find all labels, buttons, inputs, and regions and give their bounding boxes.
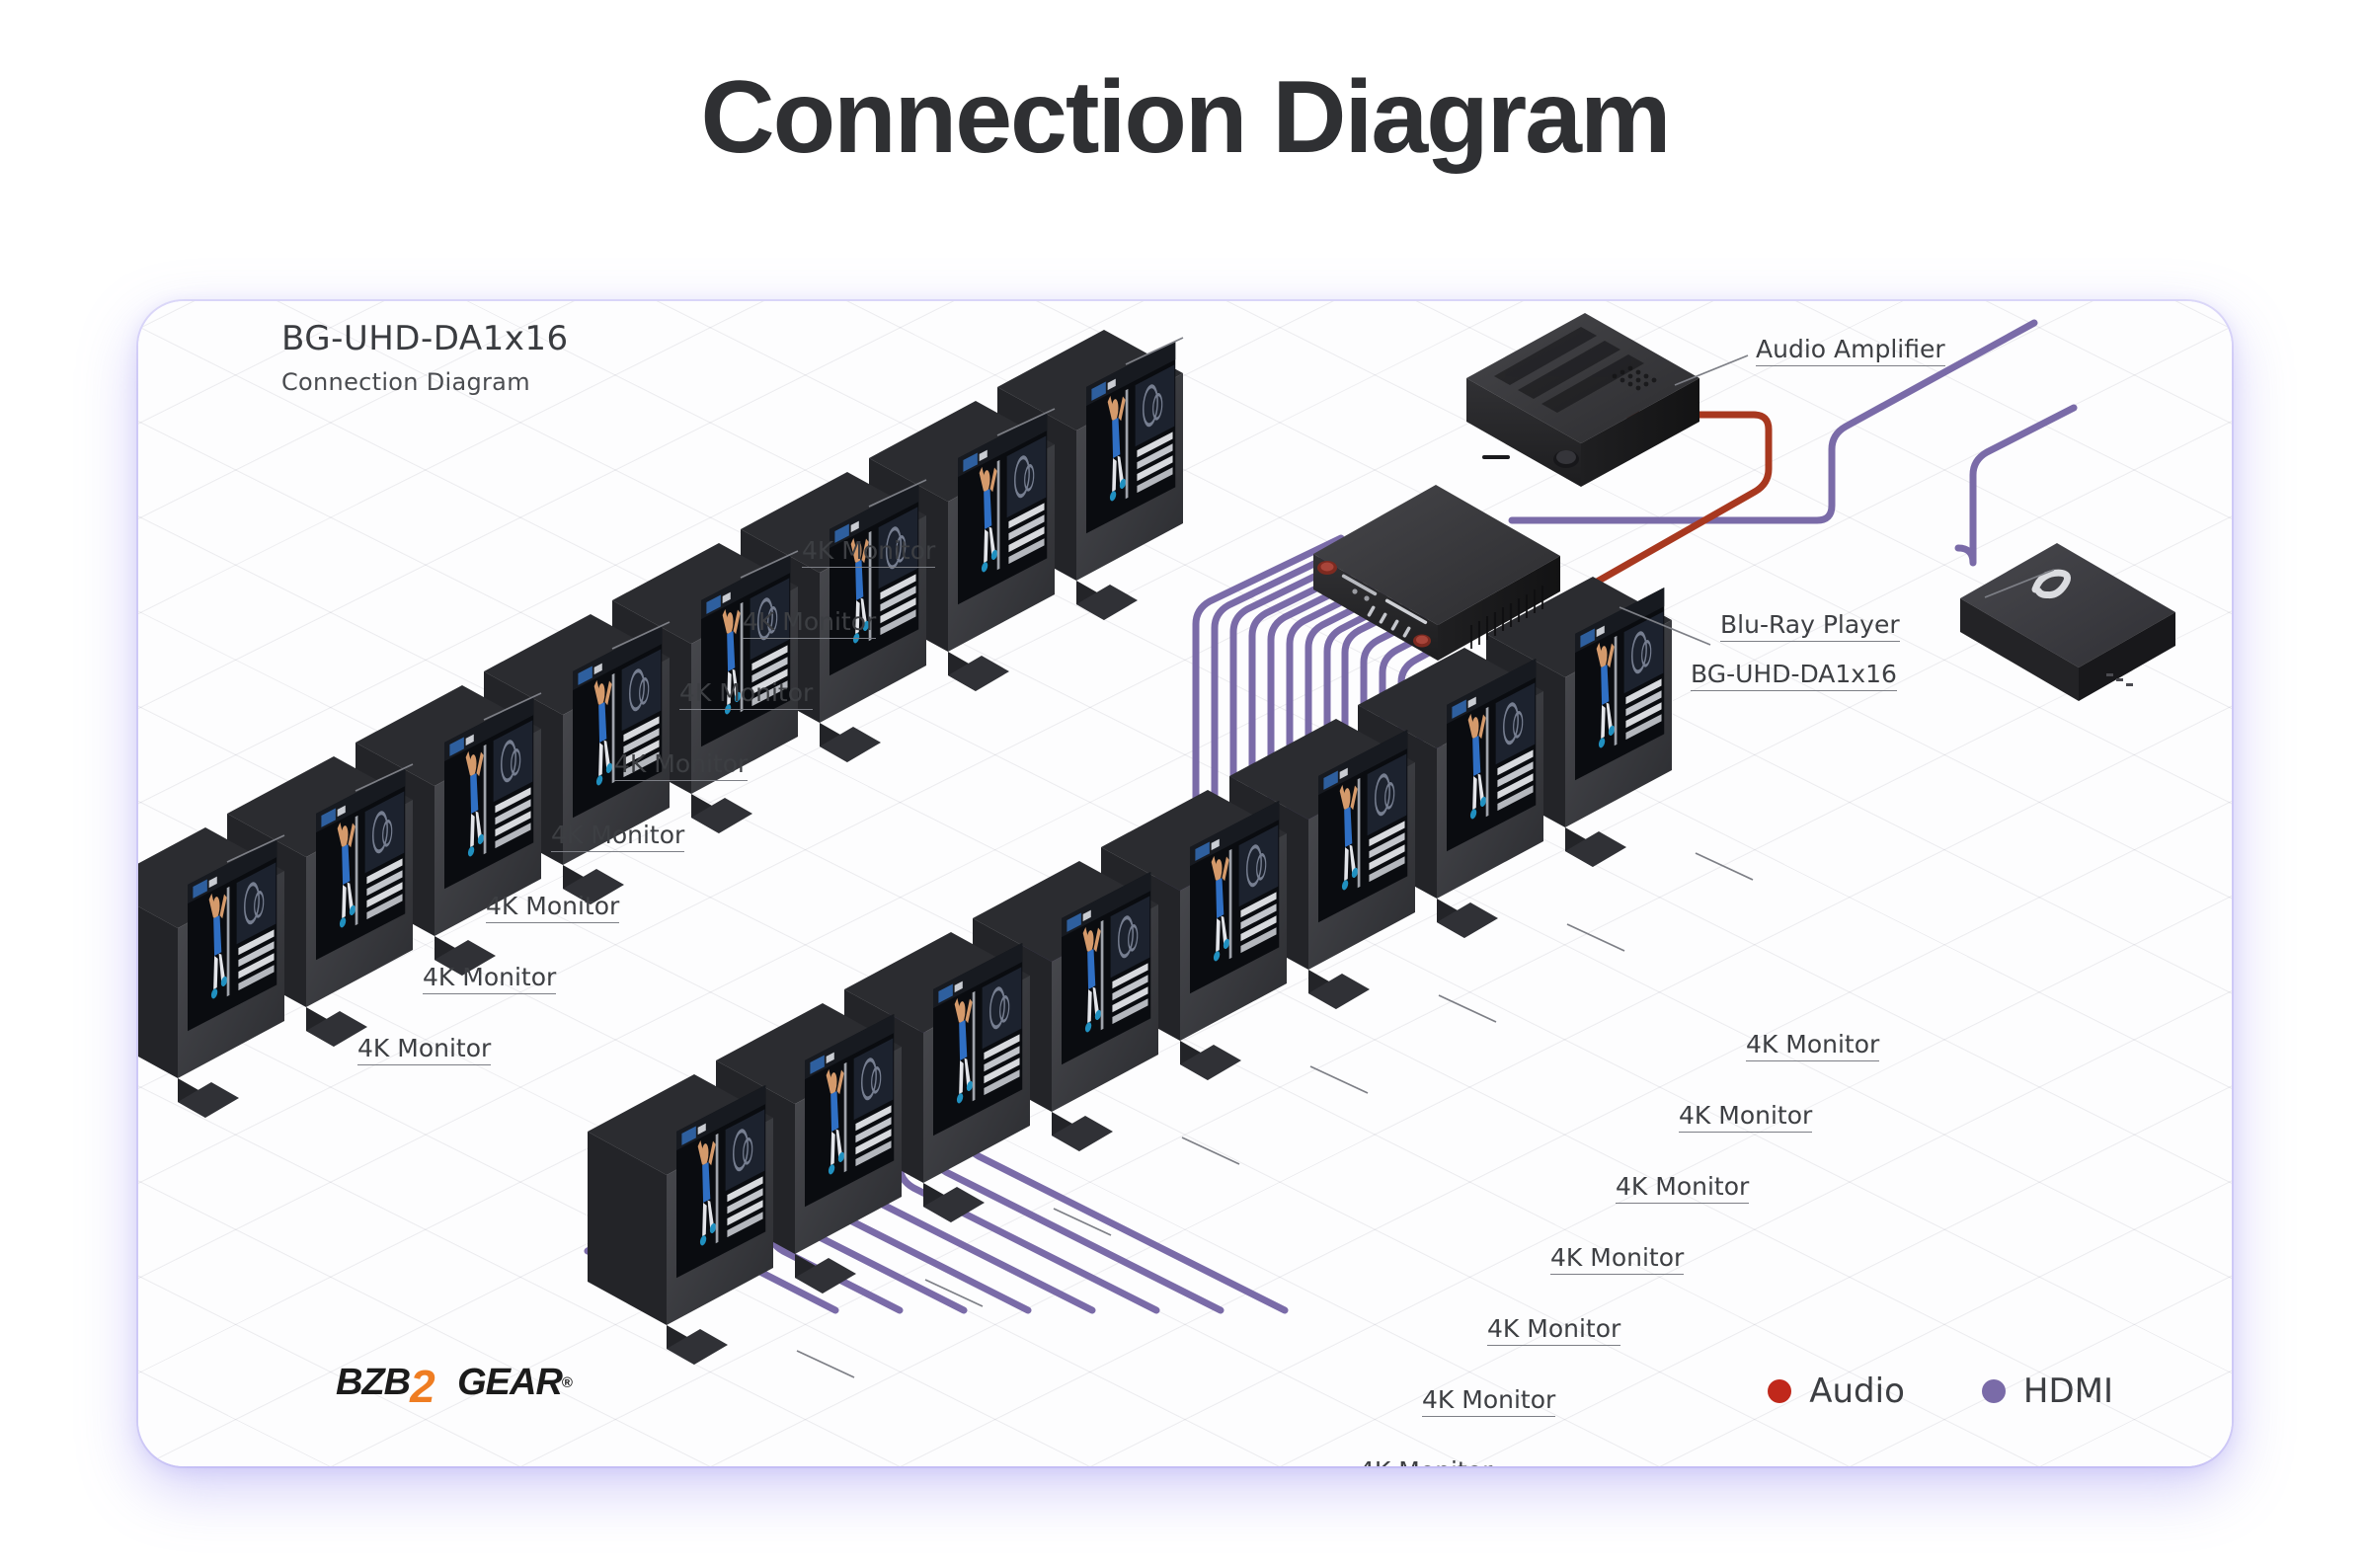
logo-text-right: GEAR — [457, 1362, 562, 1404]
audio-dot-icon — [1768, 1379, 1791, 1403]
page-title: Connection Diagram — [0, 59, 2370, 177]
monitor-label: 4K Monitor — [1487, 1316, 1620, 1346]
monitor-label: 4K Monitor — [614, 751, 748, 781]
legend-label-hdmi: HDMI — [2023, 1372, 2113, 1411]
brand-logo: BZB 2 GEAR ® — [336, 1360, 573, 1405]
monitor-label: 4K Monitor — [486, 894, 619, 923]
logo-text-left: BZB — [336, 1362, 410, 1404]
monitor-label: 4K Monitor — [1422, 1387, 1555, 1417]
distribution-amplifier-label: BG-UHD-DA1x16 — [1691, 662, 1897, 691]
monitor-label: 4K Monitor — [1550, 1245, 1684, 1275]
blu-ray-player-label: Blu-Ray Player — [1720, 612, 1900, 642]
monitor-label: 4K Monitor — [1746, 1032, 1879, 1061]
monitor-label: 4K Monitor — [802, 538, 935, 568]
logo-mark-icon: 2 — [408, 1362, 459, 1403]
monitor-label: 4K Monitor — [357, 1036, 491, 1065]
logo-registered-mark: ® — [562, 1374, 573, 1391]
legend-label-audio: Audio — [1809, 1372, 1905, 1411]
diagram-card: BG-UHD-DA1x16 Connection Diagram — [138, 301, 2232, 1466]
legend-item-audio: Audio — [1768, 1372, 1905, 1411]
legend-item-hdmi: HDMI — [1982, 1372, 2113, 1411]
monitor-label: 4K Monitor — [743, 609, 876, 639]
monitor — [588, 1074, 773, 1365]
monitor-label: 4K Monitor — [1616, 1174, 1749, 1204]
monitor-label: 4K Monitor — [423, 965, 556, 994]
monitor — [138, 827, 284, 1118]
hdmi-dot-icon — [1982, 1379, 2006, 1403]
monitor-label: 4K Monitor — [1359, 1458, 1492, 1466]
audio-amplifier-label: Audio Amplifier — [1756, 337, 1945, 366]
monitor-label: 4K Monitor — [551, 823, 684, 852]
logo-mark-glyph: 2 — [410, 1360, 435, 1413]
monitor-label: 4K Monitor — [1679, 1103, 1812, 1133]
monitor-label: 4K Monitor — [679, 680, 813, 710]
blu-ray-player-device — [1960, 543, 2175, 701]
legend: Audio HDMI — [1768, 1372, 2113, 1411]
audio-amplifier-device — [1466, 313, 1699, 487]
connection-diagram-canvas — [138, 301, 2232, 1466]
